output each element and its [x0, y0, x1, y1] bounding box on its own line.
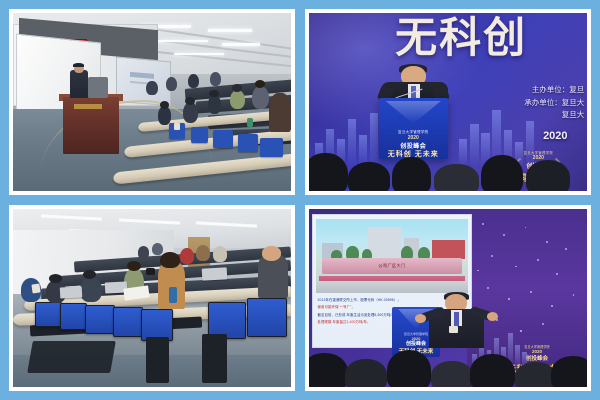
auditorium-seat	[213, 130, 232, 148]
speaker-hair	[73, 63, 84, 67]
auditorium-seat	[247, 298, 288, 337]
audience-head	[387, 350, 431, 387]
water-bottle	[169, 287, 177, 303]
auditorium-seat	[113, 307, 143, 337]
projection-screen	[116, 57, 171, 107]
audience-silhouettes	[309, 138, 587, 191]
attendee	[269, 93, 291, 132]
attendee-head	[160, 252, 179, 268]
attendee	[258, 255, 289, 298]
attendee	[180, 248, 194, 264]
attendee	[146, 81, 157, 95]
auditorium-seat	[238, 134, 257, 152]
photo-summit-stage-keynote: 无科创 主办单位：复旦 承办单位：复旦大 复旦大 2020	[309, 13, 587, 191]
podium-highlight	[385, 101, 441, 124]
audience-head	[309, 353, 348, 387]
auditorium-seat	[35, 302, 62, 327]
audience-head	[470, 354, 514, 387]
audience-silhouettes	[309, 334, 587, 387]
attendee-head	[160, 101, 169, 109]
building	[368, 227, 401, 259]
handheld-microphone	[146, 268, 154, 275]
attendee	[138, 246, 149, 258]
attendee	[166, 77, 177, 91]
collage-cell-top-left	[9, 9, 295, 195]
laptop	[202, 267, 228, 281]
audience-head	[345, 359, 387, 387]
ceiling-lamp	[152, 40, 208, 42]
presenter-tie	[454, 312, 458, 326]
slide-campus-photo: 公司厂区大门	[316, 219, 468, 293]
audience-head	[309, 153, 348, 191]
attendee	[152, 243, 163, 255]
audience-head	[348, 162, 390, 191]
laptop	[60, 287, 83, 299]
collage-cell-top-right: 无科创 主办单位：复旦 承办单位：复旦大 复旦大 2020	[305, 9, 591, 195]
audience-head	[392, 157, 431, 191]
company-sign-wall: 公司厂区大门	[322, 258, 462, 274]
speaker-body	[70, 70, 88, 98]
organizer-line-1: 主办单位：复旦	[524, 84, 584, 96]
attendee-head	[262, 246, 281, 260]
photo-summit-stage-presentation: 公司厂区大门 2013年在香港联交所上市，股票代码（HK.00596）； 使用可…	[309, 209, 587, 387]
attendee	[196, 245, 210, 261]
podium-monitor	[88, 77, 107, 98]
slide-graphic	[130, 72, 154, 79]
backdrop-headline: 无科创	[395, 17, 527, 59]
auditorium-seat	[60, 303, 87, 330]
attendee-head	[185, 97, 195, 105]
road	[316, 281, 468, 293]
attendee	[213, 246, 227, 262]
water-bottle	[247, 118, 253, 127]
auditorium-seat	[85, 305, 115, 334]
attendee	[230, 90, 245, 110]
ceiling-lamp	[208, 29, 252, 32]
company-sign-text: 公司厂区大门	[322, 263, 462, 269]
paper-cup	[174, 123, 180, 130]
attendee	[80, 277, 102, 302]
attendee-head	[255, 80, 265, 88]
seat-support-leg	[146, 337, 168, 383]
attendee-head	[127, 261, 141, 272]
attendee	[210, 72, 221, 86]
presenter-hand-left	[415, 314, 426, 323]
attendee	[183, 102, 198, 123]
auditorium-seat	[141, 309, 174, 341]
podium-plaque	[74, 104, 102, 109]
ceiling-lamp	[222, 43, 261, 45]
attendee	[252, 86, 269, 109]
audience-head	[551, 356, 587, 387]
photo-lecture-hall-wide	[13, 13, 291, 191]
seat-support-leg	[27, 341, 116, 373]
collage-cell-bottom-left	[9, 205, 295, 391]
attendee-head	[232, 84, 241, 91]
photo-collage: 无科创 主办单位：复旦 承办单位：复旦大 复旦大 2020	[0, 0, 600, 400]
audience-head	[434, 164, 478, 191]
attendee	[188, 74, 199, 88]
seat-support-leg	[202, 334, 227, 384]
ceiling-lamp	[174, 53, 224, 55]
auditorium-seat	[260, 138, 282, 158]
audience-head	[431, 361, 473, 387]
attendee-head	[209, 90, 218, 97]
attendee-head	[49, 274, 62, 283]
collage-cell-bottom-right: 公司厂区大门 2013年在香港联交所上市，股票代码（HK.00596）； 使用可…	[305, 205, 591, 391]
photo-audience-seating	[13, 209, 291, 387]
building	[432, 240, 465, 259]
presenter-badge	[449, 326, 457, 332]
attendee	[208, 95, 222, 115]
auditorium-seat	[191, 127, 208, 143]
audience-head	[481, 155, 523, 191]
audience-head	[526, 160, 570, 191]
